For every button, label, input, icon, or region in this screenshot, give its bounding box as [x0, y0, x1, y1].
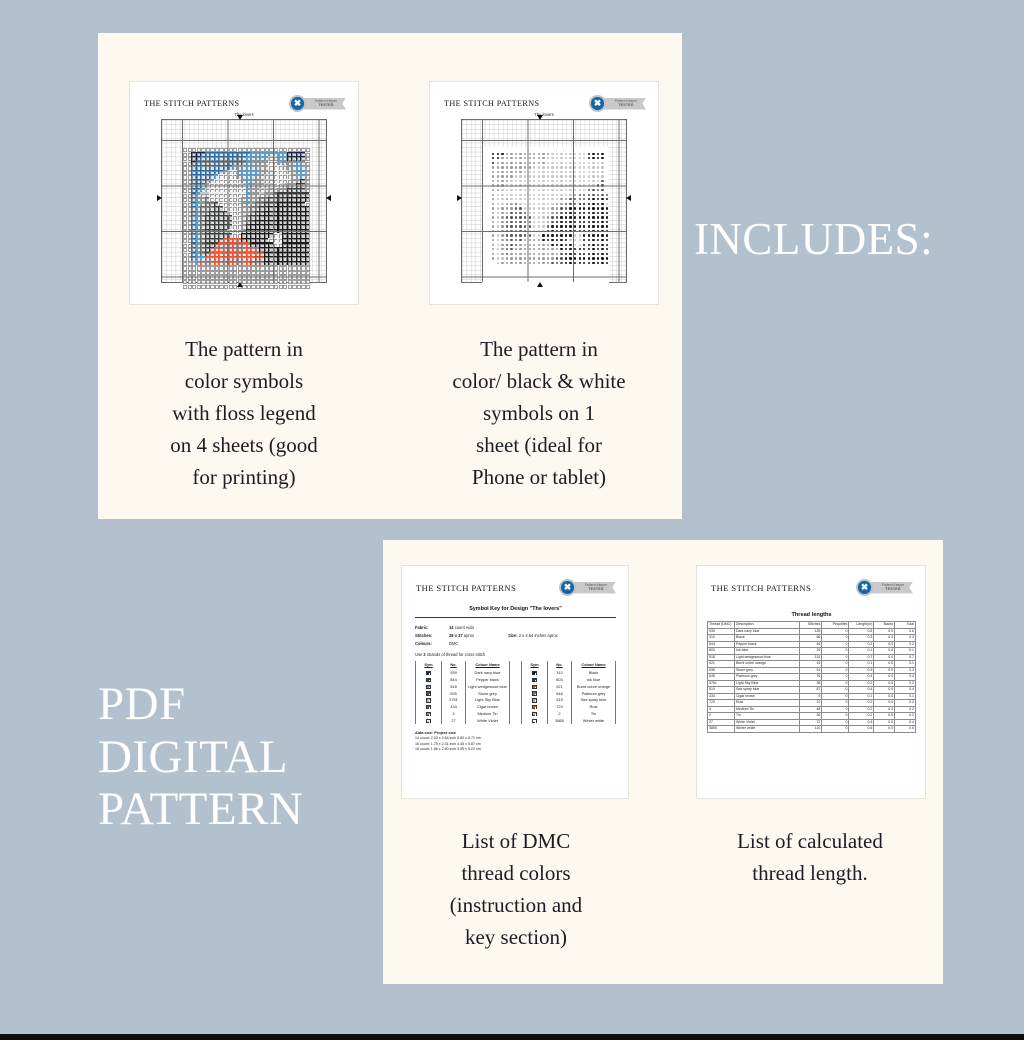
chart-title: The lovers [130, 112, 358, 117]
floss-symbol-icon [532, 712, 536, 716]
floss-symbol-icon [426, 719, 430, 723]
poster-root: INCLUDES: PDF DIGITAL PATTERN THE STITCH… [0, 0, 1024, 1040]
caption-line-4: on 4 sheets (good [128, 430, 360, 462]
badge-ribbon: Pattern Keeper TESTED [868, 582, 913, 594]
symbol-swatch-cell [522, 697, 548, 704]
cell-gap [510, 690, 522, 697]
cell-gap [510, 683, 522, 690]
floss-number-cell: 646 [548, 690, 572, 697]
sheet-header: THE STITCH PATTERNS Pattern Keeper TESTE… [430, 82, 658, 112]
floss-number-cell: 27 [442, 717, 466, 724]
x-mark-icon: ✖ [561, 581, 574, 594]
key-meta-list: Fabric:14 count AidaStitches:28 x 37 apr… [415, 624, 616, 647]
caption-line-1: List of calculated [690, 826, 930, 858]
floss-number-cell: 939 [442, 669, 466, 676]
floss-name-cell: Black [572, 669, 616, 676]
key-meta-row: Stitches:28 x 37 aproxSize: 2 x 2.64 inc… [415, 632, 616, 640]
symbol-swatch-cell [522, 683, 548, 690]
caption-line-4: key section) [406, 922, 626, 954]
table-row: 518Light wedgewood blue921Burnt ochre or… [416, 683, 616, 690]
pattern-keeper-badge: Pattern Keeper TESTED ✖ [289, 95, 346, 112]
floss-number-cell: 3865 [548, 717, 572, 724]
tick-left-icon [157, 195, 162, 201]
tick-top-icon [237, 115, 243, 120]
cell-thread: 3865 [708, 726, 735, 733]
cell-gap [510, 676, 522, 683]
badge-ribbon-line2: TESTED [876, 587, 910, 591]
floss-name-cell: Ink blue [572, 676, 616, 683]
symbol-swatch-cell [522, 703, 548, 710]
tick-right-icon [326, 195, 331, 201]
caption-line-3: (instruction and [406, 890, 626, 922]
symbol-swatch-cell [522, 717, 548, 724]
divider [415, 617, 616, 618]
table-row: 844Pepper black803Ink blue [416, 676, 616, 683]
floss-symbol-icon [426, 698, 430, 702]
symbol-swatch-cell [416, 703, 442, 710]
floss-number-cell: 3 [442, 710, 466, 717]
sheet-title: THE STITCH PATTERNS [144, 99, 239, 108]
cell-length: 0.6 [849, 726, 874, 733]
floss-name-cell: Sea spray blue [572, 697, 616, 704]
symbol-swatch-cell [416, 676, 442, 683]
cell-pequrites: 0 [822, 726, 849, 733]
floss-name-cell: Pepper black [466, 676, 510, 683]
floss-number-cell: 720 [548, 703, 572, 710]
caption-line-1: List of DMC [406, 826, 626, 858]
floss-number-cell: 803 [548, 676, 572, 683]
table-row: 3865Winter white11000.60.00.6 [708, 726, 916, 733]
x-mark-icon: ✖ [858, 581, 871, 594]
floss-number-cell: 2 [548, 710, 572, 717]
floss-name-cell: White Violet [466, 717, 510, 724]
caption-dmc-list: List of DMCthread colors(instruction and… [406, 826, 626, 954]
floss-symbol-icon [532, 678, 536, 682]
key-meta-row: Fabric:14 count Aida [415, 624, 616, 632]
badge-disc: ✖ [856, 579, 873, 596]
cell-gap [510, 703, 522, 710]
sheet-title: THE STITCH PATTERNS [711, 583, 811, 593]
caption-line-2: color symbols [128, 366, 360, 398]
badge-ribbon-line1: Pattern Keeper [309, 99, 343, 103]
col-name: Colour Name [572, 661, 616, 669]
badge-disc: ✖ [559, 579, 576, 596]
thread-lengths-table: Thread (DMC)DescriptionStitchesPequrites… [707, 621, 916, 733]
sheet-bw-symbols[interactable]: THE STITCH PATTERNS Pattern Keeper TESTE… [430, 82, 658, 304]
col-sym: Sym [416, 661, 442, 669]
floss-number-cell: 310 [548, 669, 572, 676]
tick-top-icon [537, 115, 543, 120]
badge-ribbon-line1: Pattern Keeper [876, 583, 910, 587]
chart-grid-color [161, 119, 327, 283]
floss-symbol-icon [426, 705, 430, 709]
x-mark-icon: ✖ [591, 97, 604, 110]
floss-number-cell: 434 [442, 703, 466, 710]
tick-left-icon [457, 195, 462, 201]
table-header-row: SymNo.Colour NameSymNo.Colour Name [416, 661, 616, 669]
tick-bottom-icon [237, 282, 243, 287]
table-body: 939Dark navy blue310Black844Pepper black… [416, 669, 616, 724]
cell-description: Winter white [735, 726, 799, 733]
floss-symbol-icon [532, 719, 536, 723]
caption-line-3: with floss legend [128, 398, 360, 430]
symbol-swatch-cell [416, 683, 442, 690]
badge-ribbon-line2: TESTED [309, 103, 343, 107]
floss-symbol-icon [532, 671, 536, 675]
sheet-header: THE STITCH PATTERNS Pattern Keeper TESTE… [402, 566, 628, 596]
floss-name-cell: Platinum grey [572, 690, 616, 697]
table-row: 434Cigar brown720Rust [416, 703, 616, 710]
floss-number-cell: 921 [548, 683, 572, 690]
cell-backs: 0.0 [874, 726, 895, 733]
caption-color-symbols: The pattern incolor symbolswith floss le… [128, 334, 360, 494]
badge-disc: ✖ [589, 95, 606, 112]
pdf-digital-pattern-heading: PDF DIGITAL PATTERN [98, 678, 303, 836]
x-mark-icon: ✖ [291, 97, 304, 110]
key-meta-row: Colours:DMC [415, 640, 616, 648]
table-body: 939Dark navy blue12500.60.00.6310Black66… [708, 628, 916, 732]
symbol-swatch-cell [416, 710, 442, 717]
badge-ribbon-line2: TESTED [579, 587, 613, 591]
key-meta-secondary: Size: 2 x 2.64 inches aprox [508, 632, 558, 640]
pattern-keeper-badge: Pattern Keeper TESTED ✖ [589, 95, 646, 112]
pdf-line-2: DIGITAL [98, 731, 303, 784]
key-meta-label: Colours: [415, 640, 449, 648]
cell-gap [510, 717, 522, 724]
chart-wrap: The lovers [430, 112, 658, 283]
sheet-title: THE STITCH PATTERNS [416, 583, 516, 593]
badge-disc: ✖ [289, 95, 306, 112]
floss-name-cell: Tin [572, 710, 616, 717]
table-row: 939Dark navy blue310Black [416, 669, 616, 676]
floss-symbol-icon [426, 671, 430, 675]
chart-wrap: The lovers [130, 112, 358, 283]
symbol-swatch-cell [416, 697, 442, 704]
caption-line-5: Phone or tablet) [420, 462, 658, 494]
chart-title: The lovers [430, 112, 658, 117]
cell-gap [510, 710, 522, 717]
floss-name-cell: Burnt ochre orange [572, 683, 616, 690]
caption-thread-length: List of calculatedthread length. [690, 826, 930, 890]
table-row: 3761Light Sky Blue519Sea spray blue [416, 697, 616, 704]
col-sym: Sym [522, 661, 548, 669]
aida-size-footer: Aida size: Project size 14 count: 2.00 x… [415, 730, 616, 753]
sheet-thread-lengths[interactable]: THE STITCH PATTERNS Pattern Keeper TESTE… [697, 566, 925, 798]
sheet-color-symbols[interactable]: THE STITCH PATTERNS Pattern Keeper TESTE… [130, 82, 358, 304]
cell-gap [510, 697, 522, 704]
floss-number-cell: 519 [548, 697, 572, 704]
tick-bottom-icon [537, 282, 543, 287]
col-gap [510, 661, 522, 669]
symbol-swatch-cell [416, 690, 442, 697]
floss-symbol-icon [426, 712, 430, 716]
floss-name-cell: Light Sky Blue [466, 697, 510, 704]
caption-line-5: for printing) [128, 462, 360, 494]
floss-name-cell: Stone grey [466, 690, 510, 697]
badge-ribbon: Pattern Keeper TESTED [571, 582, 616, 594]
cell-gap [510, 669, 522, 676]
tick-right-icon [626, 195, 631, 201]
grid-bold [162, 120, 326, 282]
badge-ribbon-line1: Pattern Keeper [609, 99, 643, 103]
floss-number-cell: 3761 [442, 697, 466, 704]
pattern-keeper-badge: Pattern Keeper TESTED ✖ [856, 579, 913, 596]
key-meta-label: Stitches: [415, 632, 449, 640]
table-row: 535Stone grey646Platinum grey [416, 690, 616, 697]
symbol-key-heading: Symbol Key for Design "The lovers" [415, 606, 616, 612]
floss-name-cell: Dark navy blue [466, 669, 510, 676]
chart-grid-bw [461, 119, 627, 283]
col-w-th: Thread (DMC) [708, 622, 735, 629]
key-meta-value: DMC [449, 640, 458, 648]
caption-line-4: sheet (ideal for [420, 430, 658, 462]
table-row: 27White Violet3865Winter white [416, 717, 616, 724]
floss-symbol-icon [426, 691, 430, 695]
table-row: 3Medium Tin2Tin [416, 710, 616, 717]
key-meta-label: Fabric: [415, 624, 449, 632]
caption-line-3: symbols on 1 [420, 398, 658, 430]
pdf-line-3: PATTERN [98, 783, 303, 836]
pattern-cell [605, 283, 610, 288]
pattern-keeper-badge: Pattern Keeper TESTED ✖ [559, 579, 616, 596]
symbol-swatch-cell [522, 669, 548, 676]
badge-ribbon-line2: TESTED [609, 103, 643, 107]
sheet-title: THE STITCH PATTERNS [444, 99, 539, 108]
key-note-post: strands of thread for cross stitch [426, 652, 485, 657]
col-no: No. [548, 661, 572, 669]
floss-symbol-icon [426, 678, 430, 682]
symbol-swatch-cell [522, 710, 548, 717]
aida-size-line-3: 18 count: 1.56 x 2.60 inch 3.95 x 5.22 c… [415, 747, 616, 753]
symbol-swatch-cell [416, 717, 442, 724]
key-meta-value: 14 count Aida [449, 624, 474, 632]
aida-size-lines: 14 count: 2.00 x 2.64 inch 5.80 x 6.71 c… [415, 736, 616, 753]
badge-ribbon: Pattern Keeper TESTED [301, 98, 346, 110]
symbol-key-body: Symbol Key for Design "The lovers" Fabri… [415, 606, 616, 753]
symbol-key-table: SymNo.Colour NameSymNo.Colour Name 939Da… [415, 661, 616, 724]
floss-name-cell: Light wedgewood blue [466, 683, 510, 690]
sheet-symbol-key[interactable]: THE STITCH PATTERNS Pattern Keeper TESTE… [402, 566, 628, 798]
table-header-row: Thread (DMC)DescriptionStitchesPequrites… [708, 622, 916, 629]
symbol-swatch-cell [522, 690, 548, 697]
floss-name-cell: Medium Tin [466, 710, 510, 717]
pdf-line-1: PDF [98, 678, 303, 731]
key-note: Use 2 strands of thread for cross stitch [415, 652, 616, 657]
floss-name-cell: Rust [572, 703, 616, 710]
floss-symbol-icon [426, 685, 430, 689]
thread-lengths-heading: Thread lengths [707, 612, 916, 618]
caption-line-1: The pattern in [420, 334, 658, 366]
floss-number-cell: 518 [442, 683, 466, 690]
floss-symbol-icon [532, 691, 536, 695]
sheet-header: THE STITCH PATTERNS Pattern Keeper TESTE… [697, 566, 925, 596]
floss-name-cell: Winter white [572, 717, 616, 724]
col-no: No. [442, 661, 466, 669]
caption-bw-symbols: The pattern incolor/ black & whitesymbol… [420, 334, 658, 494]
symbol-swatch-cell [416, 669, 442, 676]
bottom-rule [0, 1034, 1024, 1040]
grid-bold [462, 120, 626, 282]
floss-symbol-icon [532, 705, 536, 709]
pattern-cell [305, 283, 310, 288]
floss-number-cell: 844 [442, 676, 466, 683]
symbol-swatch-cell [522, 676, 548, 683]
caption-line-1: The pattern in [128, 334, 360, 366]
caption-line-2: color/ black & white [420, 366, 658, 398]
floss-number-cell: 535 [442, 690, 466, 697]
thread-lengths-body: Thread lengths Thread (DMC)DescriptionSt… [707, 612, 916, 733]
caption-line-2: thread colors [406, 858, 626, 890]
badge-ribbon: Pattern Keeper TESTED [601, 98, 646, 110]
col-name: Colour Name [466, 661, 510, 669]
cell-stitches: 110 [799, 726, 822, 733]
floss-name-cell: Cigar brown [466, 703, 510, 710]
floss-symbol-icon [532, 685, 536, 689]
key-meta-value: 28 x 37 aprox [449, 632, 474, 640]
caption-line-2: thread length. [690, 858, 930, 890]
cell-total: 0.6 [895, 726, 916, 733]
sheet-header: THE STITCH PATTERNS Pattern Keeper TESTE… [130, 82, 358, 112]
includes-heading: INCLUDES: [694, 214, 933, 264]
floss-symbol-icon [532, 698, 536, 702]
badge-ribbon-line1: Pattern Keeper [579, 583, 613, 587]
